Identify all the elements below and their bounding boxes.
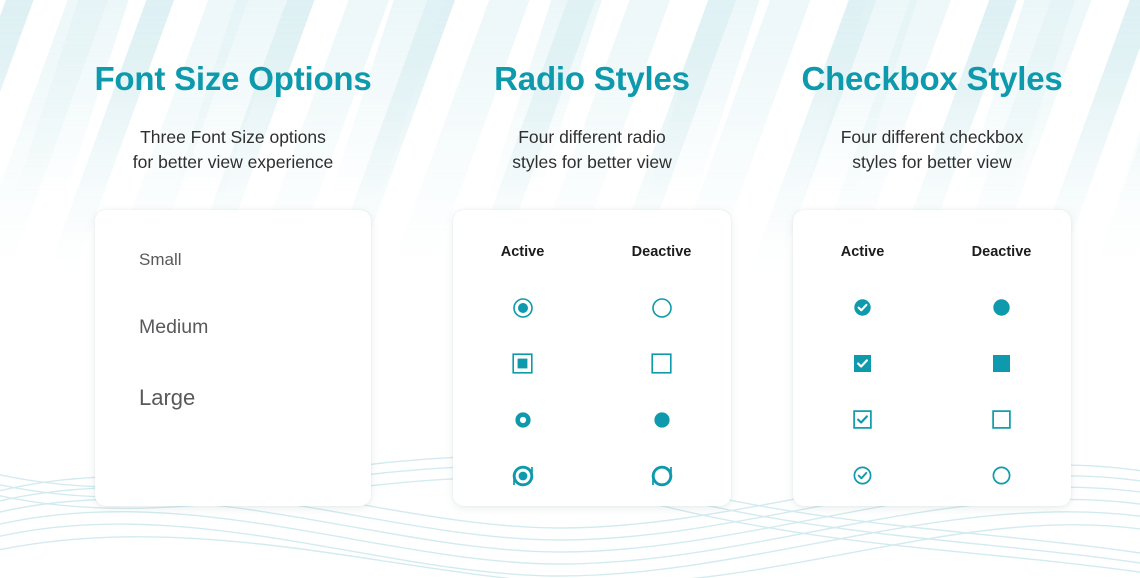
circle-outline-icon[interactable]: [991, 465, 1012, 486]
radio-square-selected-cell[interactable]: [453, 336, 592, 392]
radio-circle-empty-cell[interactable]: [592, 280, 731, 336]
check-circle-outline-icon[interactable]: [852, 465, 873, 486]
check-square-filled-icon[interactable]: [852, 353, 873, 374]
checkbox-row-square-filled: [793, 336, 1071, 392]
checkbox-row-square-outline: [793, 392, 1071, 448]
radio-square-empty-icon[interactable]: [651, 353, 672, 374]
checkbox-header-active: Active: [793, 244, 932, 260]
radio-column-headers: Active Deactive: [453, 244, 731, 260]
circle-filled-icon[interactable]: [991, 297, 1012, 318]
radio-styles-card: Active Deactive: [453, 210, 731, 506]
subtitle-radio-styles: Four different radio styles for better v…: [512, 125, 672, 176]
radio-row-square: [453, 336, 731, 392]
radio-circle-empty-icon[interactable]: [651, 297, 673, 319]
check-circle-filled-cell[interactable]: [793, 280, 932, 336]
page-title-font-size: Font Size Options: [94, 62, 371, 95]
checkbox-row-circle-filled: [793, 280, 1071, 336]
radio-row-dot: [453, 392, 731, 448]
square-filled-icon[interactable]: [991, 353, 1012, 374]
check-circle-filled-icon[interactable]: [852, 297, 873, 318]
radio-leaf-selected-cell[interactable]: [453, 448, 592, 504]
square-outline-icon[interactable]: [991, 409, 1012, 430]
radio-donut-selected-cell[interactable]: [453, 392, 592, 448]
radio-leaf-selected-icon[interactable]: [512, 465, 534, 487]
circle-filled-cell[interactable]: [932, 280, 1071, 336]
radio-header-deactive: Deactive: [592, 244, 731, 260]
font-size-option-small[interactable]: Small: [139, 250, 371, 270]
column-font-size: Font Size Options Three Font Size option…: [44, 62, 422, 506]
check-square-filled-cell[interactable]: [793, 336, 932, 392]
checkbox-row-circle-outline: [793, 448, 1071, 504]
radio-circle-selected-cell[interactable]: [453, 280, 592, 336]
column-checkbox-styles: Checkbox Styles Four different checkbox …: [762, 62, 1102, 506]
radio-circle-selected-icon[interactable]: [512, 297, 534, 319]
radio-dot-filled-icon[interactable]: [652, 410, 672, 430]
subtitle-font-size: Three Font Size options for better view …: [133, 125, 333, 176]
checkbox-header-deactive: Deactive: [932, 244, 1071, 260]
radio-header-active: Active: [453, 244, 592, 260]
page-root: Font Size Options Three Font Size option…: [0, 0, 1140, 578]
check-square-outline-icon[interactable]: [852, 409, 873, 430]
square-outline-cell[interactable]: [932, 392, 1071, 448]
page-title-checkbox-styles: Checkbox Styles: [801, 62, 1062, 95]
radio-square-empty-cell[interactable]: [592, 336, 731, 392]
font-size-option-medium[interactable]: Medium: [139, 316, 371, 339]
radio-dot-filled-cell[interactable]: [592, 392, 731, 448]
font-size-option-large[interactable]: Large: [139, 385, 371, 411]
checkbox-column-headers: Active Deactive: [793, 244, 1071, 260]
radio-row-circle: [453, 280, 731, 336]
checkbox-styles-card: Active Deactive: [793, 210, 1071, 506]
check-circle-outline-cell[interactable]: [793, 448, 932, 504]
columns-container: Font Size Options Three Font Size option…: [0, 0, 1140, 506]
page-title-radio-styles: Radio Styles: [494, 62, 690, 95]
square-filled-cell[interactable]: [932, 336, 1071, 392]
column-radio-styles: Radio Styles Four different radio styles…: [422, 62, 762, 506]
radio-donut-selected-icon[interactable]: [513, 410, 533, 430]
check-square-outline-cell[interactable]: [793, 392, 932, 448]
radio-leaf-empty-cell[interactable]: [592, 448, 731, 504]
font-size-card: Small Medium Large: [95, 210, 371, 506]
radio-row-leaf: [453, 448, 731, 504]
subtitle-checkbox-styles: Four different checkbox styles for bette…: [841, 125, 1024, 176]
circle-outline-cell[interactable]: [932, 448, 1071, 504]
radio-square-selected-icon[interactable]: [512, 353, 533, 374]
radio-leaf-empty-icon[interactable]: [651, 465, 673, 487]
